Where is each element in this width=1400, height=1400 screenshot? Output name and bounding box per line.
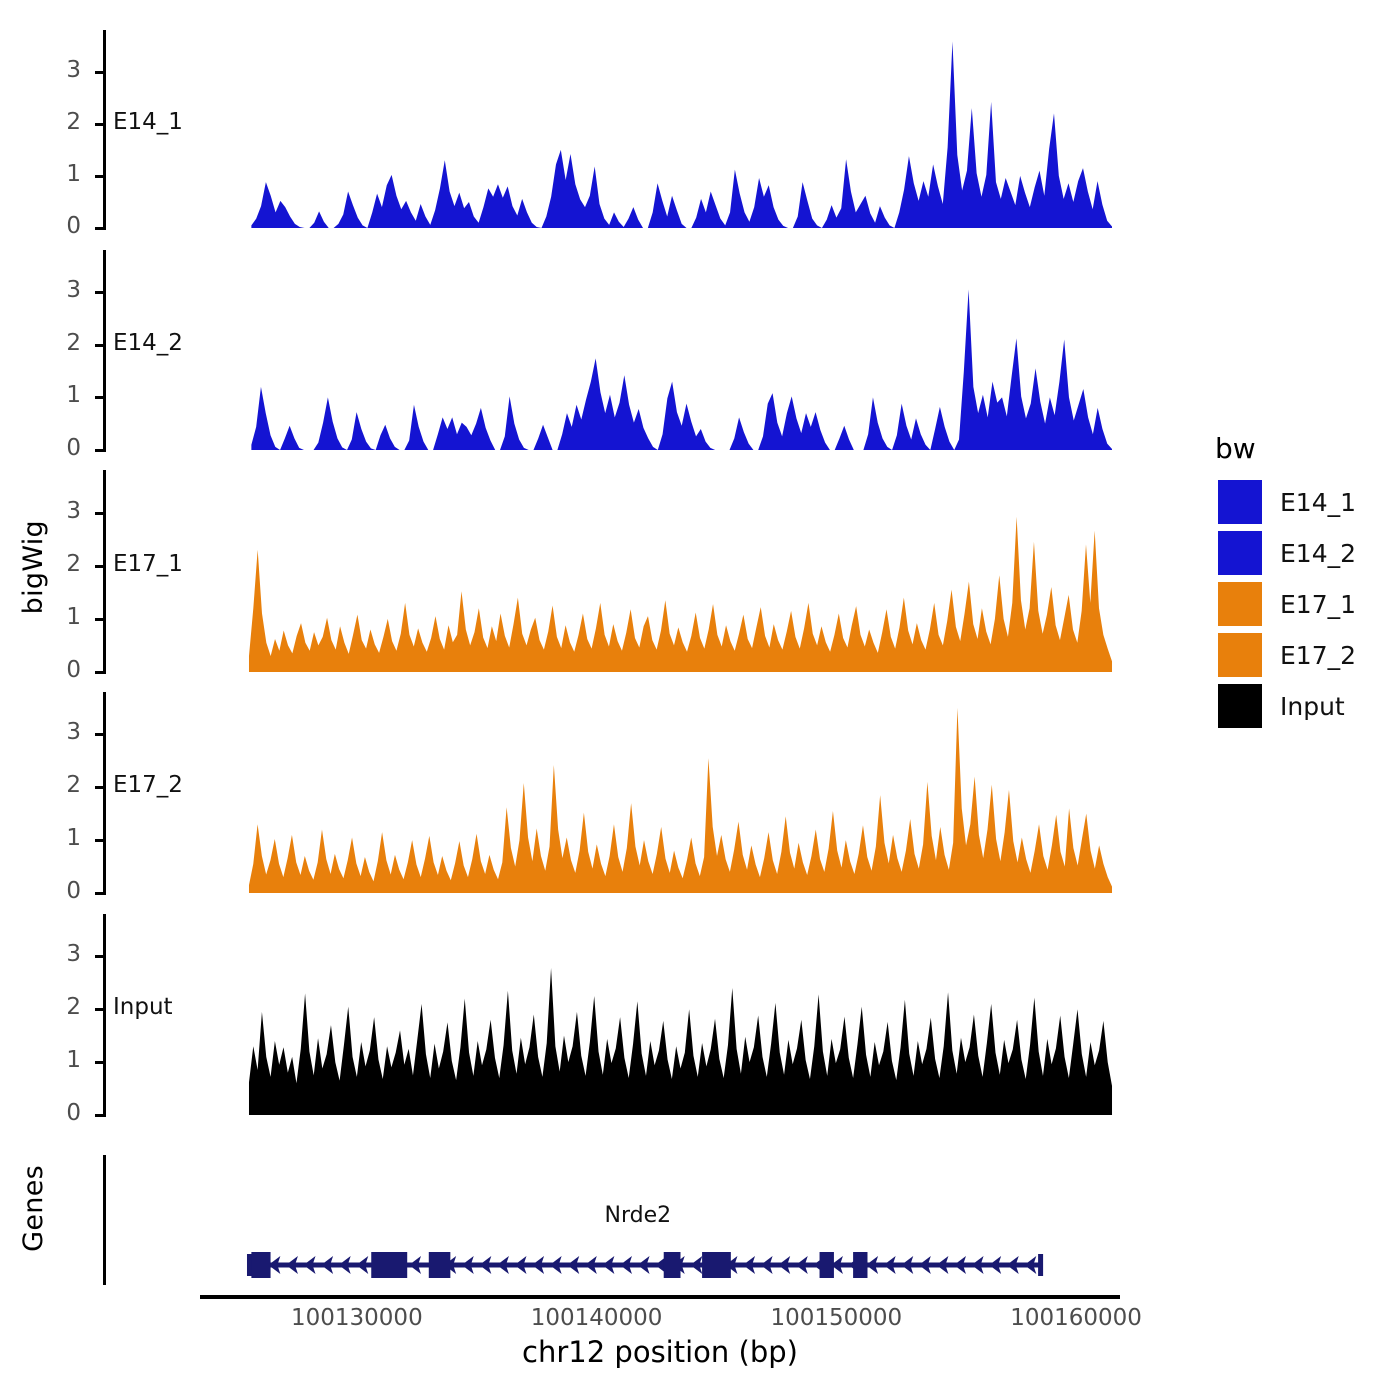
y-axis-line-e14_2 [103,250,106,452]
y-tick-label: 2 [51,994,81,1020]
legend-title: bw [1215,432,1256,465]
legend-swatch-e14_1 [1218,480,1262,524]
y-tick-label: 2 [51,330,81,356]
legend-label-e17_2: E17_2 [1280,641,1356,670]
x-tick-label: 100130000 [267,1305,447,1331]
y-tickmark [95,512,103,515]
legend-swatch-e14_2 [1218,531,1262,575]
y-tickmark [95,955,103,958]
y-tick-label: 1 [51,1047,81,1073]
panel-label-e17_1: E17_1 [113,551,183,577]
y-tick-label: 1 [51,604,81,630]
y-tick-label: 0 [51,435,81,461]
y-tickmark [95,123,103,126]
legend-swatch-e17_2 [1218,633,1262,677]
y-tick-label: 3 [51,57,81,83]
legend-label-e14_1: E14_1 [1280,488,1356,517]
y-axis-title-bigwig: bigWig [18,520,49,614]
y-tickmark [95,1008,103,1011]
y-tickmark [95,396,103,399]
y-tickmark [95,344,103,347]
y-axis-title-genes: Genes [18,1165,49,1252]
y-tickmark [95,291,103,294]
gene-name-label: Nrde2 [605,1203,672,1228]
y-tick-label: 2 [51,109,81,135]
panel-label-e17_2: E17_2 [113,772,183,798]
legend-label-input: Input [1280,692,1345,721]
x-tick-label: 100150000 [746,1305,926,1331]
y-tick-label: 3 [51,941,81,967]
legend-label-e17_1: E17_1 [1280,590,1356,619]
gene-model-nrde2[interactable] [217,1242,1144,1288]
signal-track-e14_2 [237,250,1124,452]
y-tickmark [95,1114,103,1117]
y-tickmark [95,1061,103,1064]
genome-browser-figure: bigWig Genes 0123E14_10123E14_20123E17_1… [0,0,1400,1400]
y-axis-line-e17_2 [103,692,106,895]
y-tickmark [95,71,103,74]
y-tick-label: 1 [51,161,81,187]
legend-label-e14_2: E14_2 [1280,539,1356,568]
x-tick-label: 100140000 [507,1305,687,1331]
y-tick-label: 0 [51,657,81,683]
y-tickmark [95,839,103,842]
panel-label-input: Input [113,994,173,1020]
panel-label-e14_1: E14_1 [113,109,183,135]
y-tick-label: 2 [51,551,81,577]
y-tick-label: 0 [51,1100,81,1126]
y-tickmark [95,671,103,674]
y-tick-label: 3 [51,719,81,745]
signal-track-e17_2 [237,692,1124,895]
y-tick-label: 1 [51,825,81,851]
y-tick-label: 3 [51,498,81,524]
y-tick-label: 0 [51,878,81,904]
genes-axis-line [103,1155,106,1285]
y-tickmark [95,786,103,789]
y-axis-line-e14_1 [103,30,106,230]
legend-swatch-e17_1 [1218,582,1262,626]
x-tick-label: 100160000 [986,1305,1166,1331]
y-tick-label: 2 [51,772,81,798]
y-tick-label: 1 [51,382,81,408]
y-axis-line-input [103,914,106,1117]
y-tick-label: 0 [51,213,81,239]
signal-track-e17_1 [237,470,1124,674]
y-tickmark [95,175,103,178]
y-tickmark [95,733,103,736]
y-tickmark [95,449,103,452]
y-tick-label: 3 [51,277,81,303]
y-tickmark [95,227,103,230]
x-axis-line [200,1295,1120,1299]
panel-label-e14_2: E14_2 [113,330,183,356]
y-tickmark [95,892,103,895]
legend-swatch-input [1218,684,1262,728]
y-tickmark [95,618,103,621]
x-axis-title: chr12 position (bp) [400,1335,920,1369]
signal-track-input [237,914,1124,1117]
y-axis-line-e17_1 [103,470,106,674]
y-tickmark [95,565,103,568]
signal-track-e14_1 [237,30,1124,230]
